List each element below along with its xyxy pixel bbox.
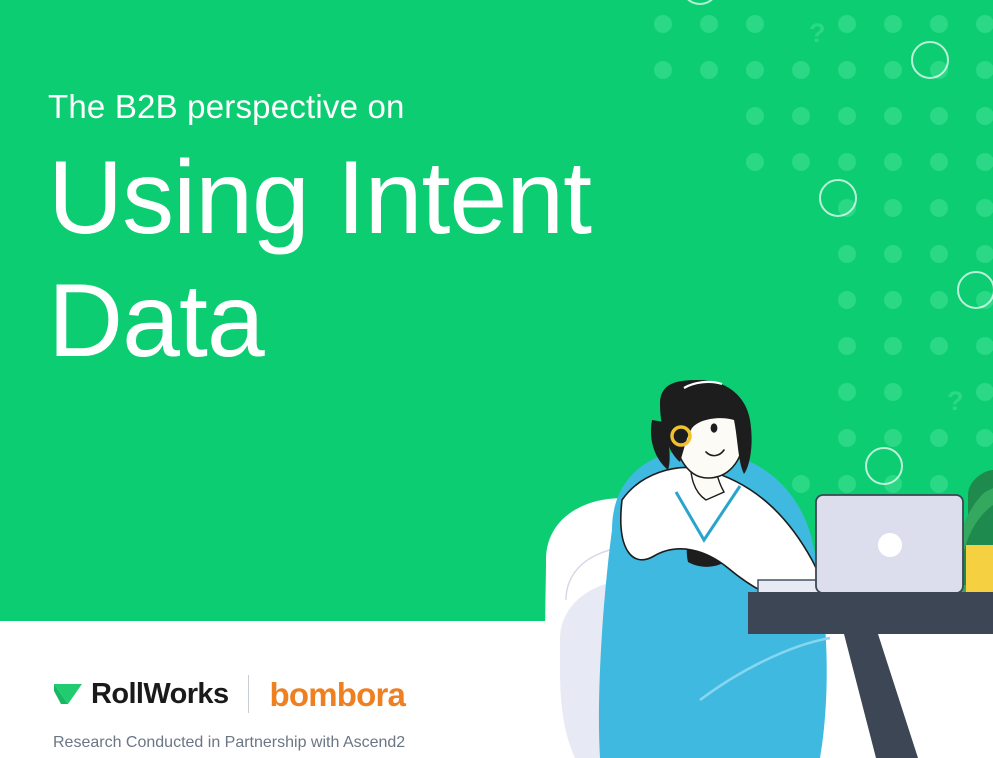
laptop (816, 495, 963, 593)
eye (711, 423, 718, 432)
cover-page: ?? The B2B perspective on Using Intent D… (0, 0, 993, 758)
rollworks-logo-icon (53, 682, 83, 706)
footer: RollWorks bombora Research Conducted in … (0, 621, 993, 758)
laptop-logo-icon (878, 533, 902, 557)
research-credit-text: Research Conducted in Partnership with A… (53, 734, 405, 752)
logo-divider (248, 675, 249, 713)
partner-logos: RollWorks bombora (53, 673, 405, 715)
rollworks-logo-text: RollWorks (91, 680, 228, 709)
bombora-logo-text: bombora (269, 678, 405, 711)
